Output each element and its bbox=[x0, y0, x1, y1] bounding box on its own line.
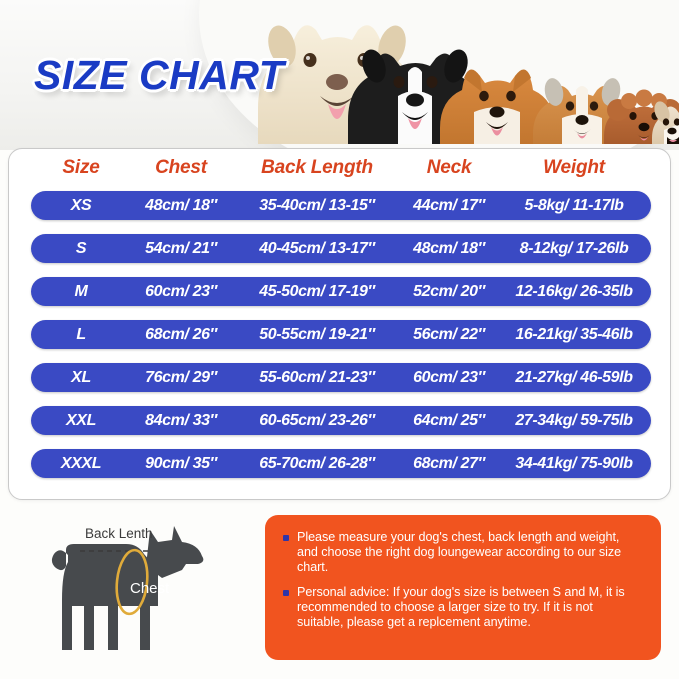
instruction-text: Please measure your dog's chest, back le… bbox=[297, 530, 641, 576]
cell-back-length: 40-45cm/ 13-17″ bbox=[227, 234, 407, 263]
cell-chest: 60cm/ 23″ bbox=[121, 277, 241, 306]
cell-chest: 90cm/ 35″ bbox=[121, 449, 241, 478]
cell-chest: 54cm/ 21″ bbox=[121, 234, 241, 263]
cell-weight: 5-8kg/ 11-17lb bbox=[504, 191, 644, 220]
column-header-neck: Neck bbox=[389, 157, 509, 179]
cell-weight: 27-34kg/ 59-75lb bbox=[504, 406, 644, 435]
cell-back-length: 50-55cm/ 19-21″ bbox=[227, 320, 407, 349]
cell-chest: 76cm/ 29″ bbox=[121, 363, 241, 392]
column-header-back-length: Back Length bbox=[227, 157, 407, 179]
cell-neck: 56cm/ 22″ bbox=[389, 320, 509, 349]
dog-photo-group bbox=[248, 0, 679, 144]
cell-back-length: 60-65cm/ 23-26″ bbox=[227, 406, 407, 435]
column-header-weight: Weight bbox=[504, 157, 644, 179]
page-title: SIZE CHART bbox=[34, 52, 284, 99]
size-chart-card: Size Chest Back Length Neck Weight XS 48… bbox=[8, 148, 671, 500]
cell-chest: 48cm/ 18″ bbox=[121, 191, 241, 220]
table-header-row: Size Chest Back Length Neck Weight bbox=[9, 157, 672, 189]
cell-weight: 12-16kg/ 26-35lb bbox=[504, 277, 644, 306]
cell-back-length: 65-70cm/ 26-28″ bbox=[227, 449, 407, 478]
table-row: XS 48cm/ 18″ 35-40cm/ 13-15″ 44cm/ 17″ 5… bbox=[9, 191, 672, 234]
dog-photos-svg bbox=[248, 0, 679, 144]
column-header-chest: Chest bbox=[121, 157, 241, 179]
hero-banner: SIZE CHART bbox=[0, 0, 679, 150]
cell-weight: 21-27kg/ 46-59lb bbox=[504, 363, 644, 392]
instruction-item: Please measure your dog's chest, back le… bbox=[279, 530, 641, 576]
cell-weight: 8-12kg/ 17-26lb bbox=[504, 234, 644, 263]
cell-chest: 68cm/ 26″ bbox=[121, 320, 241, 349]
instruction-item: Personal advice: If your dog's size is b… bbox=[279, 585, 641, 631]
cell-back-length: 35-40cm/ 13-15″ bbox=[227, 191, 407, 220]
dog-body-shape bbox=[52, 544, 158, 650]
instructions-box: Please measure your dog's chest, back le… bbox=[265, 515, 661, 660]
table-row: XXL 84cm/ 33″ 60-65cm/ 23-26″ 64cm/ 25″ … bbox=[9, 406, 672, 449]
back-length-label: Back Lenth bbox=[85, 526, 153, 541]
measurement-diagram: Back Lenth Chest bbox=[22, 510, 262, 672]
cell-chest: 84cm/ 33″ bbox=[121, 406, 241, 435]
cell-neck: 44cm/ 17″ bbox=[389, 191, 509, 220]
bullet-square-icon bbox=[283, 590, 289, 596]
dog-head-shape bbox=[146, 526, 203, 578]
table-row: L 68cm/ 26″ 50-55cm/ 19-21″ 56cm/ 22″ 16… bbox=[9, 320, 672, 363]
cell-weight: 34-41kg/ 75-90lb bbox=[504, 449, 644, 478]
table-body: XS 48cm/ 18″ 35-40cm/ 13-15″ 44cm/ 17″ 5… bbox=[9, 191, 672, 492]
bullet-square-icon bbox=[283, 535, 289, 541]
table-row: M 60cm/ 23″ 45-50cm/ 17-19″ 52cm/ 20″ 12… bbox=[9, 277, 672, 320]
chest-label: Chest bbox=[130, 580, 169, 597]
cell-neck: 68cm/ 27″ bbox=[389, 449, 509, 478]
cell-neck: 48cm/ 18″ bbox=[389, 234, 509, 263]
cell-weight: 16-21kg/ 35-46lb bbox=[504, 320, 644, 349]
table-row: XL 76cm/ 29″ 55-60cm/ 21-23″ 60cm/ 23″ 2… bbox=[9, 363, 672, 406]
instruction-text: Personal advice: If your dog's size is b… bbox=[297, 585, 641, 631]
cell-neck: 60cm/ 23″ bbox=[389, 363, 509, 392]
cell-neck: 52cm/ 20″ bbox=[389, 277, 509, 306]
table-row: S 54cm/ 21″ 40-45cm/ 13-17″ 48cm/ 18″ 8-… bbox=[9, 234, 672, 277]
cell-back-length: 55-60cm/ 21-23″ bbox=[227, 363, 407, 392]
table-row: XXXL 90cm/ 35″ 65-70cm/ 26-28″ 68cm/ 27″… bbox=[9, 449, 672, 492]
cell-back-length: 45-50cm/ 17-19″ bbox=[227, 277, 407, 306]
cell-neck: 64cm/ 25″ bbox=[389, 406, 509, 435]
